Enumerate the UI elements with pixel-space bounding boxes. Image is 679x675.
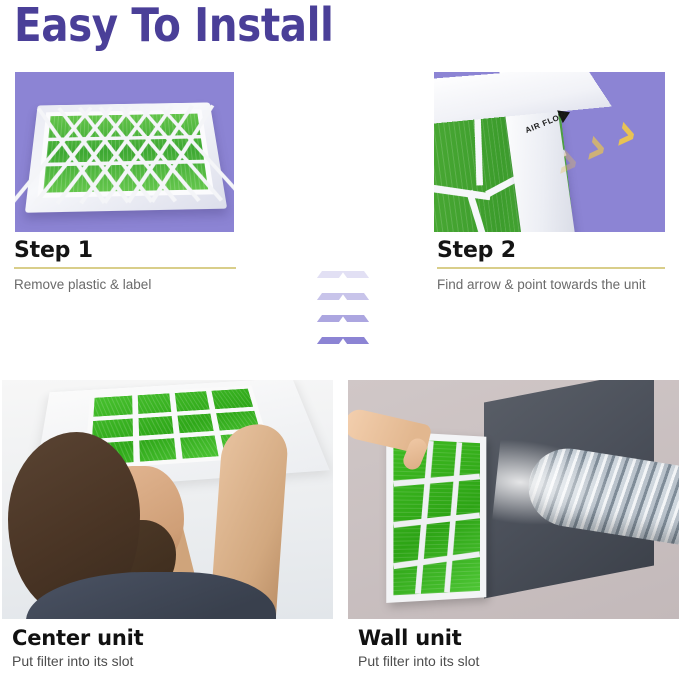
step2-rule (437, 267, 665, 269)
chevron-down-icon (322, 271, 364, 287)
page-title: Easy To Install (14, 0, 333, 52)
filter-frame (37, 110, 214, 198)
wall-filter (386, 431, 486, 603)
center-unit-heading: Center unit (12, 626, 144, 650)
step1-caption: Step 1 Remove plastic & label (14, 238, 236, 294)
step2-photo: AIR FLOW › › › (434, 72, 665, 232)
step2-heading: Step 2 (437, 238, 665, 263)
airflow-chevron-icon-2: › (581, 118, 614, 175)
step1-rule (14, 267, 236, 269)
center-unit-description: Put filter into its slot (12, 653, 144, 669)
chevron-down-icon (322, 293, 364, 309)
filter-corner-illustration: AIR FLOW › › › (434, 72, 665, 232)
chevron-down-icon (322, 315, 364, 331)
step2-caption: Step 2 Find arrow & point towards the un… (437, 238, 665, 294)
step2-description: Find arrow & point towards the unit (437, 275, 665, 294)
center-unit-photo (2, 380, 333, 619)
wall-unit-heading: Wall unit (358, 626, 479, 650)
wall-unit-photo (348, 380, 679, 619)
wall-unit-caption: Wall unit Put filter into its slot (358, 626, 479, 669)
chevron-down-icon-group (322, 271, 366, 353)
duct-glow (492, 438, 620, 534)
center-unit-caption: Center unit Put filter into its slot (12, 626, 144, 669)
step1-photo (15, 72, 234, 232)
airflow-chevron-icon-3: › (611, 104, 644, 161)
chevron-down-icon (322, 337, 364, 353)
step1-description: Remove plastic & label (14, 275, 236, 294)
filter-mesh (43, 114, 208, 193)
wall-unit-description: Put filter into its slot (358, 653, 479, 669)
filter-plastic-bag (25, 102, 227, 212)
step1-heading: Step 1 (14, 238, 236, 263)
